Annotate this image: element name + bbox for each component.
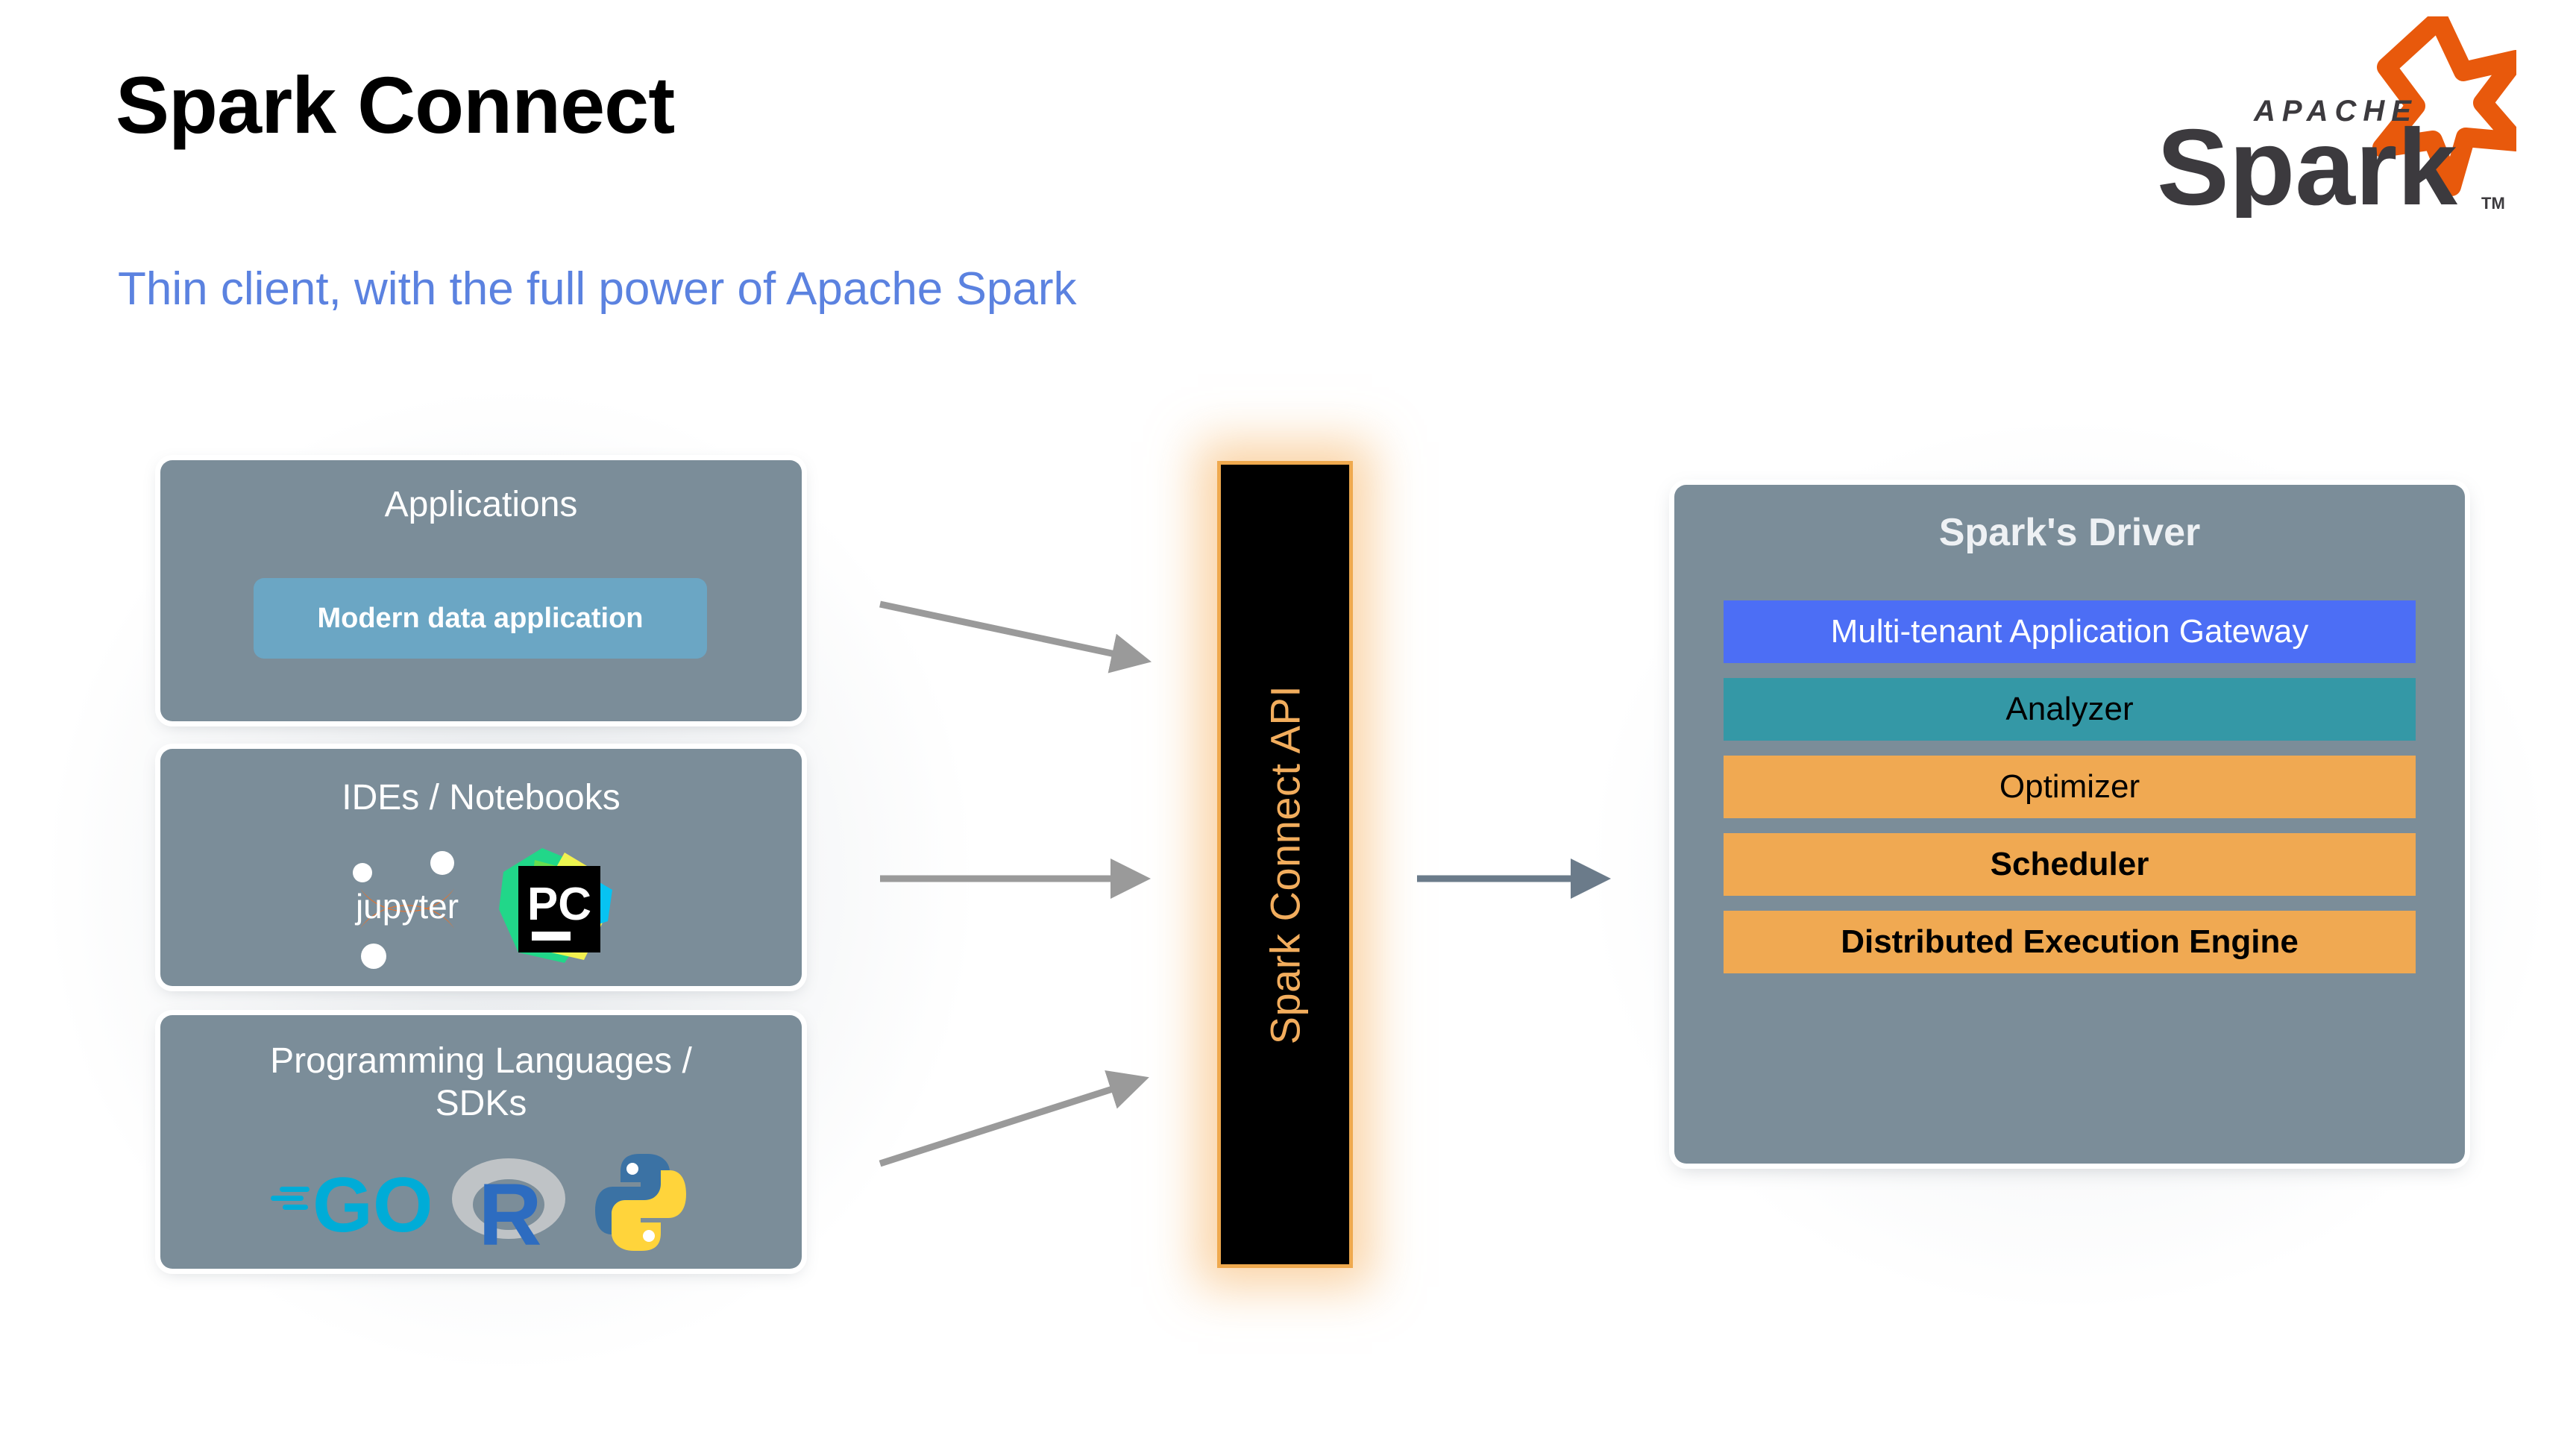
driver-row[interactable]: Optimizer [1724, 756, 2416, 818]
driver-row-label: Optimizer [1999, 768, 2140, 806]
driver-row-label: Multi-tenant Application Gateway [1831, 613, 2309, 650]
modern-data-application-box[interactable]: Modern data application [254, 578, 707, 659]
panel-ides-notebooks-title: IDEs / Notebooks [160, 777, 802, 820]
python-logo [588, 1149, 694, 1255]
jupyter-logo: jupyter [341, 841, 474, 973]
r-logo-svg: R [449, 1149, 568, 1255]
driver-row-label: Analyzer [2005, 691, 2133, 728]
apache-spark-logo: APACHE Spark TM [2143, 16, 2516, 218]
panel-languages-title-line2: SDKs [436, 1084, 527, 1123]
arrow-api-to-driver [1417, 858, 1611, 903]
driver-row[interactable]: Distributed Execution Engine [1724, 911, 2416, 973]
pycharm-logo-svg: PC [496, 841, 621, 973]
arrow-ides-to-api [880, 858, 1149, 903]
driver-row-label: Distributed Execution Engine [1841, 923, 2299, 961]
pycharm-logo-label: PC [527, 879, 591, 930]
panel-programming-languages-sdks: Programming Languages / SDKs GO R [160, 1015, 802, 1269]
ide-logo-row: jupyter PC [160, 840, 802, 974]
driver-row[interactable]: Multi-tenant Application Gateway [1724, 600, 2416, 663]
spark-connect-api-label: Spark Connect API [1261, 685, 1310, 1044]
r-logo: R [449, 1149, 568, 1255]
modern-data-application-label: Modern data application [317, 603, 643, 635]
driver-row-list: Multi-tenant Application GatewayAnalyzer… [1724, 600, 2416, 988]
apache-spark-logo-svg: APACHE Spark TM [2143, 16, 2516, 218]
spark-logo-trademark: TM [2481, 194, 2505, 213]
panel-applications: Applications Modern data application [160, 460, 802, 721]
arrow-applications-to-api [880, 597, 1149, 686]
arrow-languages-to-api [880, 1059, 1149, 1178]
r-logo-label: R [478, 1166, 541, 1255]
panel-programming-languages-sdks-title: Programming Languages / SDKs [160, 1040, 802, 1125]
pycharm-logo: PC [496, 841, 621, 973]
driver-row[interactable]: Scheduler [1724, 833, 2416, 896]
panel-spark-driver-title: Spark's Driver [1674, 510, 2465, 555]
go-logo-svg: GO [269, 1154, 430, 1251]
panel-applications-title: Applications [160, 484, 802, 527]
python-logo-svg [588, 1149, 694, 1255]
go-logo-label: GO [312, 1162, 430, 1249]
jupyter-logo-svg: jupyter [341, 841, 474, 973]
panel-languages-title-line1: Programming Languages / [270, 1041, 692, 1081]
driver-row-label: Scheduler [1991, 846, 2149, 883]
spark-logo-wordmark: Spark [2157, 107, 2457, 218]
go-logo: GO [269, 1154, 430, 1251]
go-speed-lines-icon [271, 1187, 310, 1210]
spark-connect-api-bar[interactable]: Spark Connect API [1217, 461, 1353, 1268]
page-title: Spark Connect [116, 58, 674, 151]
pycharm-underscore-icon [532, 932, 571, 941]
panel-spark-driver: Spark's Driver Multi-tenant Application … [1674, 485, 2465, 1164]
panel-ides-notebooks: IDEs / Notebooks jupyter PC [160, 749, 802, 986]
jupyter-logo-label: jupyter [354, 887, 459, 926]
page-subtitle: Thin client, with the full power of Apac… [118, 263, 1076, 316]
driver-row[interactable]: Analyzer [1724, 678, 2416, 741]
language-logo-row: GO R [160, 1146, 802, 1258]
